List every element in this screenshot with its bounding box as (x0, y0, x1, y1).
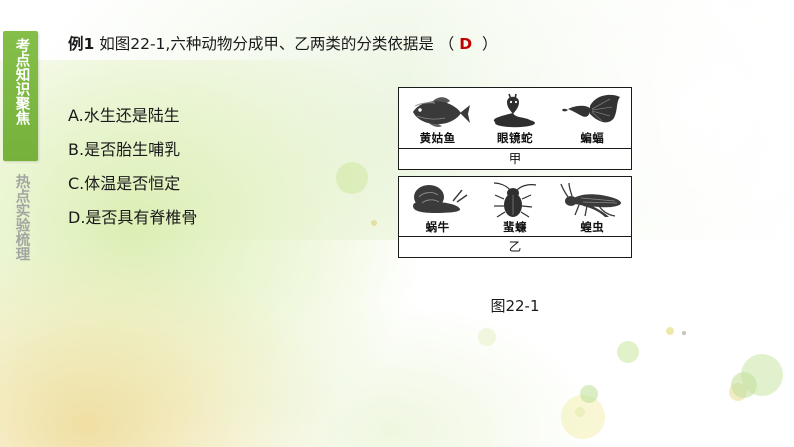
question-block: 例1 如图22-1,六种动物分成甲、乙两类的分类依据是 （ D ） (68, 34, 668, 54)
options-list: A.水生还是陆生 B.是否胎生哺乳 C.体温是否恒定 D.是否具有脊椎骨 (68, 108, 368, 244)
sidebar-item-label-inactive: 热点实验梳理 (13, 174, 29, 261)
sidebar-item-redian[interactable]: 热点实验梳理 (3, 174, 38, 304)
animal-label-snail: 蜗牛 (401, 221, 474, 235)
fish-icon (401, 91, 474, 131)
sidebar-item-kaodian[interactable]: 考点知识聚焦 (3, 31, 38, 161)
animal-row-jia: 黄姑鱼 (399, 88, 631, 149)
paren-close: ） (482, 35, 498, 53)
background-wash-yellow (0, 250, 340, 447)
animal-cell-fish: 黄姑鱼 (399, 88, 476, 148)
decoration-bubble (580, 385, 598, 403)
paren-gap-right (472, 35, 482, 53)
decoration-bubble (617, 341, 639, 363)
group-name-jia: 甲 (399, 149, 631, 169)
decoration-bubble (575, 407, 585, 417)
decoration-bubble (741, 354, 783, 396)
animal-group-yi: 蜗牛 (398, 176, 632, 259)
decoration-bubble (666, 327, 674, 335)
decoration-bubble (371, 220, 377, 226)
question-title: 例1 如图22-1,六种动物分成甲、乙两类的分类依据是 （ D ） (68, 34, 668, 54)
background-wash-green-bottom (180, 300, 600, 447)
animal-cell-bat: 蝙蝠 (554, 88, 631, 148)
animal-label-locust: 蝗虫 (556, 221, 629, 235)
locust-icon (556, 180, 629, 220)
question-lead: 例1 (68, 35, 94, 53)
figure-caption: 图22-1 (398, 295, 632, 316)
animal-label-cobra: 眼镜蛇 (478, 132, 551, 146)
decoration-bubble (682, 331, 686, 335)
cobra-icon (478, 91, 551, 131)
animal-cell-cobra: 眼镜蛇 (476, 88, 553, 148)
animal-cell-locust: 蝗虫 (554, 177, 631, 237)
option-a[interactable]: A.水生还是陆生 (68, 108, 368, 124)
animal-label-cockroach: 蜚蠊 (478, 221, 551, 235)
slide-canvas: 考点知识聚焦 热点实验梳理 例1 如图22-1,六种动物分成甲、乙两类的分类依据… (0, 0, 794, 447)
animal-cell-cockroach: 蜚蠊 (476, 177, 553, 237)
answer-letter: D (459, 35, 472, 53)
animal-label-fish: 黄姑鱼 (401, 132, 474, 146)
bat-icon (556, 91, 629, 131)
paren-open: （ (439, 35, 455, 53)
sidebar: 考点知识聚焦 热点实验梳理 (0, 0, 46, 447)
sidebar-item-label-active: 考点知识聚焦 (13, 38, 29, 125)
figure-22-1: 黄姑鱼 (398, 87, 632, 258)
question-stem: 如图22-1,六种动物分成甲、乙两类的分类依据是 (99, 35, 434, 53)
group-name-yi: 乙 (399, 237, 631, 257)
decoration-bubble (731, 372, 757, 398)
animal-label-bat: 蝙蝠 (556, 132, 629, 146)
decoration-bubble (478, 328, 496, 346)
decoration-bubble (561, 395, 605, 439)
cockroach-icon (478, 180, 551, 220)
option-d[interactable]: D.是否具有脊椎骨 (68, 210, 368, 226)
animal-group-jia: 黄姑鱼 (398, 87, 632, 170)
decoration-bubble (729, 383, 747, 401)
option-c[interactable]: C.体温是否恒定 (68, 176, 368, 192)
option-b[interactable]: B.是否胎生哺乳 (68, 142, 368, 158)
animal-cell-snail: 蜗牛 (399, 177, 476, 237)
snail-icon (401, 180, 474, 220)
animal-row-yi: 蜗牛 (399, 177, 631, 238)
